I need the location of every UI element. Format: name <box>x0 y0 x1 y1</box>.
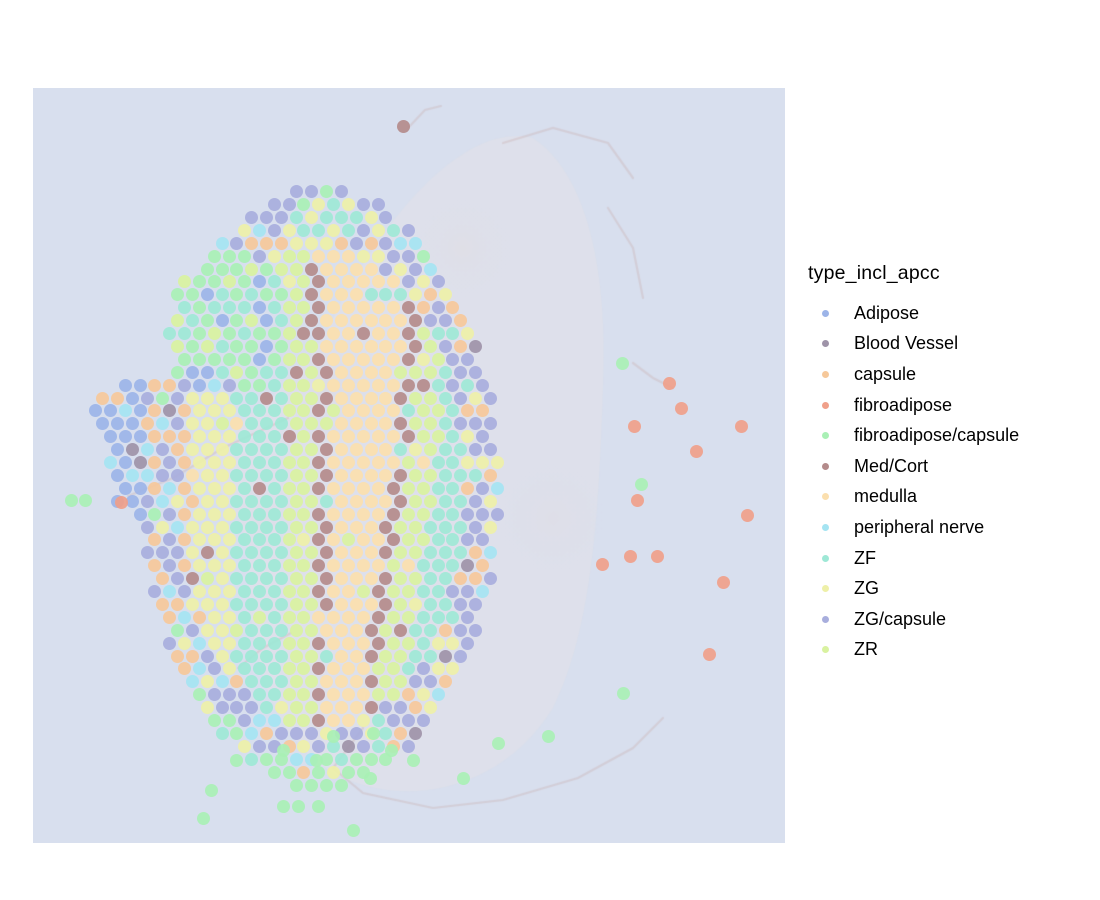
spatial-spot <box>141 469 154 482</box>
spatial-spot <box>372 585 385 598</box>
spatial-spot <box>238 688 251 701</box>
spatial-spot <box>305 727 318 740</box>
spatial-spot <box>216 417 229 430</box>
spatial-spot <box>268 585 281 598</box>
spatial-spot <box>253 559 266 572</box>
legend-item-label: fibroadipose <box>842 395 952 416</box>
spatial-spot <box>305 417 318 430</box>
spatial-spot <box>387 404 400 417</box>
spatial-spot <box>297 327 310 340</box>
spatial-spot <box>260 340 273 353</box>
spatial-spot <box>305 624 318 637</box>
spatial-spot <box>379 443 392 456</box>
spatial-spot <box>141 546 154 559</box>
spatial-spot <box>439 650 452 663</box>
spatial-spot <box>216 263 229 276</box>
spatial-spot <box>484 417 497 430</box>
spatial-spot <box>357 224 370 237</box>
spatial-spot <box>409 443 422 456</box>
spatial-spot <box>409 314 422 327</box>
spatial-spot <box>372 250 385 263</box>
spatial-spot <box>394 263 407 276</box>
spatial-spot <box>260 701 273 714</box>
legend-key-swatch <box>808 555 842 562</box>
spatial-spot <box>365 521 378 534</box>
spatial-spot <box>327 533 340 546</box>
spatial-spot <box>283 637 296 650</box>
spot-layer <box>33 88 785 843</box>
spatial-spot <box>171 417 184 430</box>
spatial-spot <box>268 688 281 701</box>
spatial-spot <box>223 430 236 443</box>
spatial-spot <box>350 624 363 637</box>
spatial-spot <box>275 237 288 250</box>
spatial-spot <box>290 701 303 714</box>
spatial-spot <box>230 366 243 379</box>
spatial-spot <box>342 688 355 701</box>
spatial-spot <box>357 740 370 753</box>
spatial-spot <box>253 611 266 624</box>
spatial-spot <box>320 779 333 792</box>
spatial-spot <box>335 237 348 250</box>
spatial-spot <box>439 495 452 508</box>
spatial-spot <box>297 559 310 572</box>
spatial-spot <box>201 495 214 508</box>
spatial-spot <box>312 301 325 314</box>
spatial-spot <box>387 714 400 727</box>
spatial-spot <box>327 198 340 211</box>
spatial-spot <box>178 585 191 598</box>
spatial-spot <box>238 379 251 392</box>
spatial-spot <box>193 430 206 443</box>
spatial-spot <box>417 301 430 314</box>
spatial-spot <box>208 379 221 392</box>
spatial-spot <box>216 546 229 559</box>
spatial-spot <box>439 314 452 327</box>
spatial-spot <box>283 301 296 314</box>
spatial-spot <box>171 650 184 663</box>
spatial-spot <box>89 404 102 417</box>
spatial-spot <box>275 469 288 482</box>
spatial-spot <box>163 482 176 495</box>
legend-color-dot-icon <box>822 616 829 623</box>
spatial-spot <box>439 288 452 301</box>
spatial-spot <box>305 495 318 508</box>
spatial-spot <box>417 379 430 392</box>
spatial-spot <box>335 417 348 430</box>
spatial-spot <box>476 456 489 469</box>
spatial-spot <box>283 327 296 340</box>
spatial-spot <box>342 327 355 340</box>
spatial-spot <box>171 469 184 482</box>
spatial-spot <box>148 430 161 443</box>
spatial-spot <box>238 662 251 675</box>
spatial-spot <box>297 301 310 314</box>
spatial-spot <box>208 353 221 366</box>
spatial-spot <box>417 637 430 650</box>
spatial-spot <box>297 275 310 288</box>
spatial-spot <box>372 611 385 624</box>
spatial-spot <box>201 546 214 559</box>
spatial-spot <box>335 701 348 714</box>
spatial-spot <box>245 727 258 740</box>
spatial-spot <box>312 404 325 417</box>
spatial-spot <box>320 598 333 611</box>
spatial-spot <box>283 688 296 701</box>
spatial-spot <box>461 404 474 417</box>
spatial-spot <box>365 288 378 301</box>
spatial-spot <box>432 404 445 417</box>
spatial-spot <box>327 353 340 366</box>
spatial-spot <box>394 417 407 430</box>
spatial-spot <box>350 546 363 559</box>
spatial-spot <box>290 727 303 740</box>
spatial-spot <box>327 456 340 469</box>
spatial-spot <box>394 598 407 611</box>
legend-color-dot-icon <box>822 493 829 500</box>
spatial-spot <box>290 546 303 559</box>
spatial-spot <box>424 495 437 508</box>
spatial-spot <box>327 688 340 701</box>
spatial-spot <box>197 812 210 825</box>
spatial-spot <box>283 430 296 443</box>
spatial-spot <box>402 508 415 521</box>
spatial-spot <box>402 637 415 650</box>
spatial-spot <box>245 521 258 534</box>
spatial-spot <box>208 662 221 675</box>
spatial-spot <box>454 443 467 456</box>
spatial-spot <box>245 650 258 663</box>
spatial-spot <box>156 521 169 534</box>
spatial-spot <box>454 340 467 353</box>
spatial-spot <box>186 314 199 327</box>
spatial-spot <box>461 379 474 392</box>
spatial-spot <box>424 469 437 482</box>
spatial-spot <box>111 417 124 430</box>
spatial-spot <box>387 301 400 314</box>
spatial-spot <box>424 263 437 276</box>
spatial-spot <box>201 675 214 688</box>
legend-item: ZF <box>808 543 1098 574</box>
spatial-spot <box>312 456 325 469</box>
spatial-spot <box>327 275 340 288</box>
spatial-spot <box>312 585 325 598</box>
legend-key-swatch <box>808 402 842 409</box>
legend-color-dot-icon <box>822 646 829 653</box>
spatial-spot <box>454 495 467 508</box>
spatial-spot <box>245 546 258 559</box>
spatial-spot <box>335 366 348 379</box>
spatial-spot <box>327 327 340 340</box>
spatial-spot <box>372 224 385 237</box>
spatial-spot <box>208 250 221 263</box>
spatial-spot <box>617 687 630 700</box>
spatial-spot <box>312 224 325 237</box>
spatial-spot <box>260 211 273 224</box>
spatial-spot <box>245 288 258 301</box>
spatial-spot <box>357 559 370 572</box>
spatial-spot <box>238 456 251 469</box>
spatial-spot <box>238 637 251 650</box>
spatial-spot <box>275 521 288 534</box>
spatial-spot <box>454 314 467 327</box>
spatial-spot <box>312 559 325 572</box>
spatial-spot <box>245 340 258 353</box>
spatial-spot <box>230 340 243 353</box>
spatial-spot <box>156 495 169 508</box>
spatial-spot <box>201 263 214 276</box>
spatial-spot <box>305 392 318 405</box>
spatial-spot <box>417 585 430 598</box>
spatial-spot <box>372 327 385 340</box>
spatial-spot <box>342 662 355 675</box>
legend-key-swatch <box>808 493 842 500</box>
spatial-spot <box>432 301 445 314</box>
spatial-spot <box>365 469 378 482</box>
spatial-spot <box>454 366 467 379</box>
spatial-spot <box>208 456 221 469</box>
spatial-spot <box>491 482 504 495</box>
spatial-spot <box>402 224 415 237</box>
spatial-spot <box>277 800 290 813</box>
spatial-spot <box>141 443 154 456</box>
spatial-spot <box>365 753 378 766</box>
spatial-spot <box>446 353 459 366</box>
spatial-spot <box>350 443 363 456</box>
spatial-spot <box>156 469 169 482</box>
spatial-spot <box>253 250 266 263</box>
spatial-spot <box>628 420 641 433</box>
spatial-spot <box>469 469 482 482</box>
spatial-spot <box>372 353 385 366</box>
spatial-spot <box>387 533 400 546</box>
spatial-spot <box>305 701 318 714</box>
spatial-spot <box>238 611 251 624</box>
spatial-spot <box>492 737 505 750</box>
spatial-spot <box>305 443 318 456</box>
spatial-spot <box>238 533 251 546</box>
spatial-spot <box>305 263 318 276</box>
spatial-spot <box>469 572 482 585</box>
spatial-spot <box>432 662 445 675</box>
spatial-spot <box>446 430 459 443</box>
spatial-spot <box>335 495 348 508</box>
legend-item-label: ZG/capsule <box>842 609 946 630</box>
spatial-spot <box>216 495 229 508</box>
spatial-spot <box>320 366 333 379</box>
spatial-spot <box>230 521 243 534</box>
spatial-spot <box>364 772 377 785</box>
spatial-spot <box>208 585 221 598</box>
spatial-spot <box>491 508 504 521</box>
spatial-spot <box>387 585 400 598</box>
spatial-spot <box>394 572 407 585</box>
spatial-spot <box>201 288 214 301</box>
spatial-spot <box>350 314 363 327</box>
spatial-spot <box>126 443 139 456</box>
spatial-spot <box>320 650 333 663</box>
spatial-spot <box>327 730 340 743</box>
spatial-spot <box>409 263 422 276</box>
spatial-spot <box>342 456 355 469</box>
spatial-spot <box>476 508 489 521</box>
spatial-spot <box>342 224 355 237</box>
legend-item: medulla <box>808 482 1098 513</box>
spatial-spot <box>409 417 422 430</box>
spatial-spot <box>253 637 266 650</box>
spatial-spot <box>186 572 199 585</box>
spatial-spot <box>476 585 489 598</box>
spatial-spot <box>297 508 310 521</box>
spatial-spot <box>178 353 191 366</box>
spatial-spot <box>171 546 184 559</box>
spatial-spot <box>454 546 467 559</box>
spatial-spot <box>432 637 445 650</box>
spatial-spot <box>223 379 236 392</box>
spatial-spot <box>216 392 229 405</box>
spatial-spot <box>372 688 385 701</box>
spatial-spot <box>283 250 296 263</box>
spatial-spot <box>454 650 467 663</box>
spatial-spot <box>253 224 266 237</box>
spatial-spot <box>171 598 184 611</box>
spatial-spot <box>193 353 206 366</box>
spatial-spot <box>223 327 236 340</box>
spatial-spot <box>148 508 161 521</box>
spatial-spot <box>148 559 161 572</box>
spatial-spot <box>469 366 482 379</box>
spatial-spot <box>372 533 385 546</box>
spatial-spot <box>277 744 290 757</box>
spatial-spot <box>283 585 296 598</box>
spatial-spot <box>409 392 422 405</box>
spatial-spot <box>320 340 333 353</box>
spatial-spot <box>163 508 176 521</box>
spatial-spot <box>312 800 325 813</box>
spatial-spot <box>417 611 430 624</box>
legend-key-swatch <box>808 616 842 623</box>
spatial-spot <box>253 379 266 392</box>
spatial-spot <box>379 314 392 327</box>
spatial-spot <box>216 701 229 714</box>
spatial-spot <box>141 521 154 534</box>
spatial-spot <box>297 662 310 675</box>
spatial-spot <box>365 650 378 663</box>
spatial-spot <box>178 637 191 650</box>
spatial-spot <box>208 559 221 572</box>
spatial-spot <box>275 572 288 585</box>
spatial-spot <box>312 198 325 211</box>
spatial-spot <box>193 301 206 314</box>
spatial-spot <box>305 288 318 301</box>
legend-item-label: ZF <box>842 548 876 569</box>
spatial-spot <box>320 469 333 482</box>
spatial-spot <box>461 508 474 521</box>
spatial-spot <box>253 327 266 340</box>
spatial-spot <box>616 357 629 370</box>
spatial-spot <box>387 688 400 701</box>
legend-item: Blood Vessel <box>808 329 1098 360</box>
spatial-spot <box>230 443 243 456</box>
spatial-spot <box>65 494 78 507</box>
spatial-spot <box>268 224 281 237</box>
spatial-spot <box>409 598 422 611</box>
spatial-spot <box>350 572 363 585</box>
spatial-spot <box>208 327 221 340</box>
spatial-spot <box>424 598 437 611</box>
spatial-spot <box>260 417 273 430</box>
spatial-spot <box>148 482 161 495</box>
spatial-spot <box>379 650 392 663</box>
spatial-spot <box>365 675 378 688</box>
spatial-spot <box>186 624 199 637</box>
spatial-spot <box>260 624 273 637</box>
spatial-spot <box>178 430 191 443</box>
spatial-spot <box>387 611 400 624</box>
spatial-spot <box>347 824 360 837</box>
spatial-spot <box>342 533 355 546</box>
spatial-spot <box>297 456 310 469</box>
spatial-spot <box>171 624 184 637</box>
spatial-spot <box>379 675 392 688</box>
spatial-spot <box>335 598 348 611</box>
spatial-spot <box>312 766 325 779</box>
spatial-spot <box>469 392 482 405</box>
spatial-spot <box>350 237 363 250</box>
spatial-spot <box>186 495 199 508</box>
spatial-spot <box>357 301 370 314</box>
spatial-spot <box>542 730 555 743</box>
spatial-spot <box>268 456 281 469</box>
spatial-spot <box>230 314 243 327</box>
spatial-spot <box>320 521 333 534</box>
spatial-spot <box>119 456 132 469</box>
spatial-spot <box>432 379 445 392</box>
spatial-spot <box>387 353 400 366</box>
legend-item-label: medulla <box>842 486 917 507</box>
spatial-spot <box>424 392 437 405</box>
spatial-spot <box>409 340 422 353</box>
spatial-spot <box>327 301 340 314</box>
legend-item: capsule <box>808 359 1098 390</box>
spatial-spot <box>171 314 184 327</box>
spatial-spot <box>163 327 176 340</box>
spatial-spot <box>335 392 348 405</box>
spatial-spot <box>268 508 281 521</box>
spatial-spot <box>469 495 482 508</box>
spatial-spot <box>305 340 318 353</box>
spatial-spot <box>186 675 199 688</box>
spatial-spot <box>141 417 154 430</box>
spatial-spot <box>171 340 184 353</box>
spatial-spot <box>424 546 437 559</box>
spatial-spot <box>223 637 236 650</box>
spatial-spot <box>275 546 288 559</box>
spatial-spot <box>178 301 191 314</box>
spatial-spot <box>96 417 109 430</box>
spatial-spot <box>320 237 333 250</box>
spatial-spot <box>283 508 296 521</box>
spatial-spot <box>310 754 323 767</box>
legend-item: Adipose <box>808 298 1098 329</box>
spatial-spot <box>394 392 407 405</box>
spatial-spot <box>283 482 296 495</box>
spatial-spot <box>230 754 243 767</box>
spatial-spot <box>283 766 296 779</box>
spatial-spot <box>223 250 236 263</box>
spatial-spot <box>357 611 370 624</box>
spatial-spot <box>385 744 398 757</box>
